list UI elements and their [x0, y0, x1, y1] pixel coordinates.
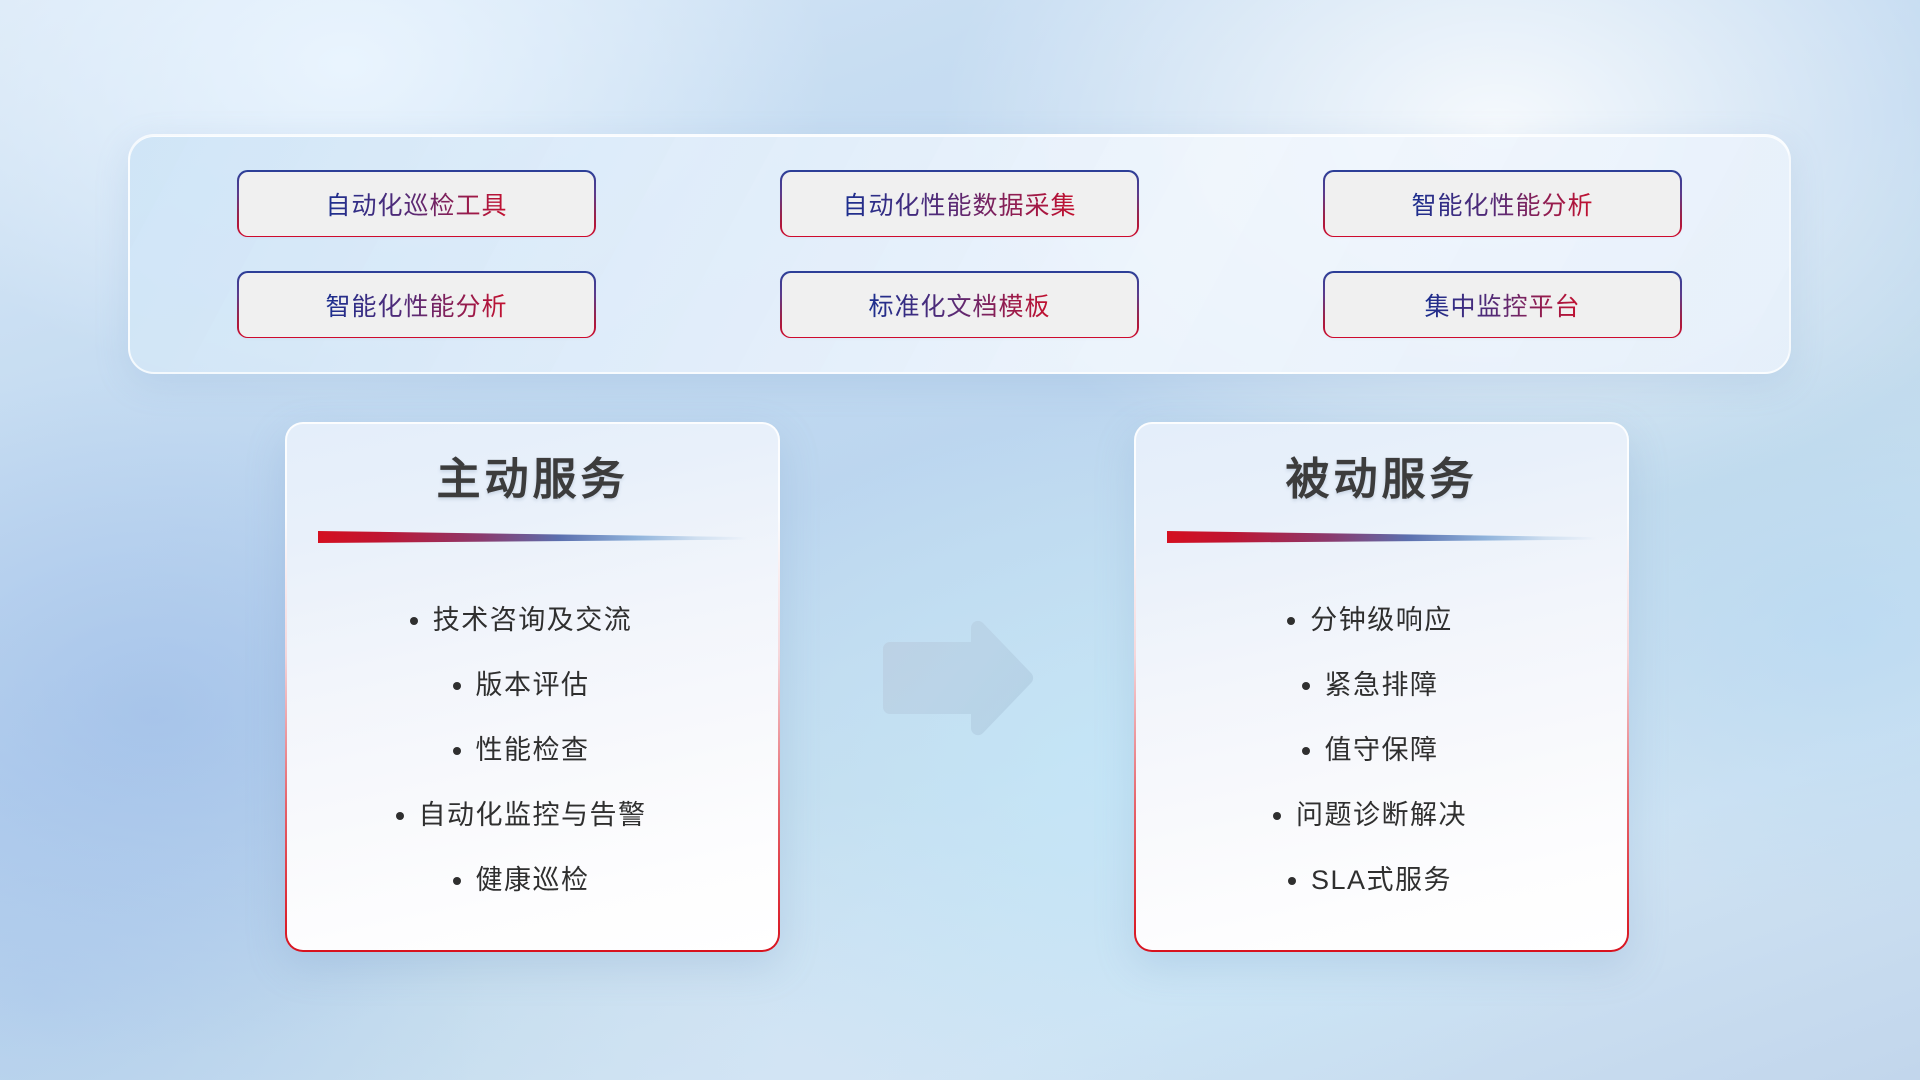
- capability-tag-0[interactable]: 自动化巡检工具: [239, 172, 594, 236]
- capability-tag-label: 智能化性能分析: [1411, 186, 1593, 222]
- capability-tag-2[interactable]: 智能化性能分析: [1325, 172, 1680, 236]
- capability-tag-5[interactable]: 集中监控平台: [1325, 273, 1680, 337]
- list-item: 健康巡检: [476, 863, 590, 898]
- list-item: SLA式服务: [1311, 863, 1452, 898]
- list-item: 自动化监控与告警: [419, 798, 647, 833]
- reactive-service-card-body: 被动服务 分钟级响应 紧急排障 值守保障 问题诊断解决 SLA式服务: [1136, 424, 1627, 950]
- title-divider: [1167, 529, 1597, 543]
- capability-tag-panel: 自动化巡检工具 自动化性能数据采集 智能化性能分析 智能化性能分析 标准化文档模…: [128, 134, 1791, 374]
- reactive-service-list: 分钟级响应 紧急排障 值守保障 问题诊断解决 SLA式服务: [1136, 567, 1627, 950]
- arrow-right-icon: [875, 618, 1040, 738]
- capability-tag-1[interactable]: 自动化性能数据采集: [782, 172, 1137, 236]
- proactive-service-title: 主动服务: [437, 452, 629, 507]
- proactive-service-list: 技术咨询及交流 版本评估 性能检查 自动化监控与告警 健康巡检: [287, 567, 778, 950]
- reactive-service-title: 被动服务: [1286, 452, 1478, 507]
- capability-tag-label: 自动化性能数据采集: [842, 186, 1076, 222]
- capability-tag-grid: 自动化巡检工具 自动化性能数据采集 智能化性能分析 智能化性能分析 标准化文档模…: [130, 136, 1789, 372]
- reactive-service-card: 被动服务 分钟级响应 紧急排障 值守保障 问题诊断解决 SLA式服务: [1134, 422, 1629, 952]
- list-item: 技术咨询及交流: [433, 603, 633, 638]
- capability-tag-label: 集中监控平台: [1424, 287, 1580, 323]
- list-item: 分钟级响应: [1310, 603, 1453, 638]
- proactive-service-card: 主动服务 技术咨询及交流 版本评估 性能检查 自动化监控与告警 健康巡检: [285, 422, 780, 952]
- list-item: 性能检查: [476, 733, 590, 768]
- divider-wedge: [318, 529, 748, 543]
- capability-tag-label: 自动化巡检工具: [325, 186, 507, 222]
- capability-tag-label: 标准化文档模板: [868, 287, 1050, 323]
- list-item: 版本评估: [476, 668, 590, 703]
- flow-arrow: [875, 618, 1040, 738]
- capability-tag-3[interactable]: 智能化性能分析: [239, 273, 594, 337]
- divider-wedge: [1167, 529, 1597, 543]
- capability-tag-label: 智能化性能分析: [325, 287, 507, 323]
- list-item: 问题诊断解决: [1296, 798, 1467, 833]
- capability-tag-4[interactable]: 标准化文档模板: [782, 273, 1137, 337]
- list-item: 值守保障: [1325, 733, 1439, 768]
- title-divider: [318, 529, 748, 543]
- list-item: 紧急排障: [1325, 668, 1439, 703]
- proactive-service-card-body: 主动服务 技术咨询及交流 版本评估 性能检查 自动化监控与告警 健康巡检: [287, 424, 778, 950]
